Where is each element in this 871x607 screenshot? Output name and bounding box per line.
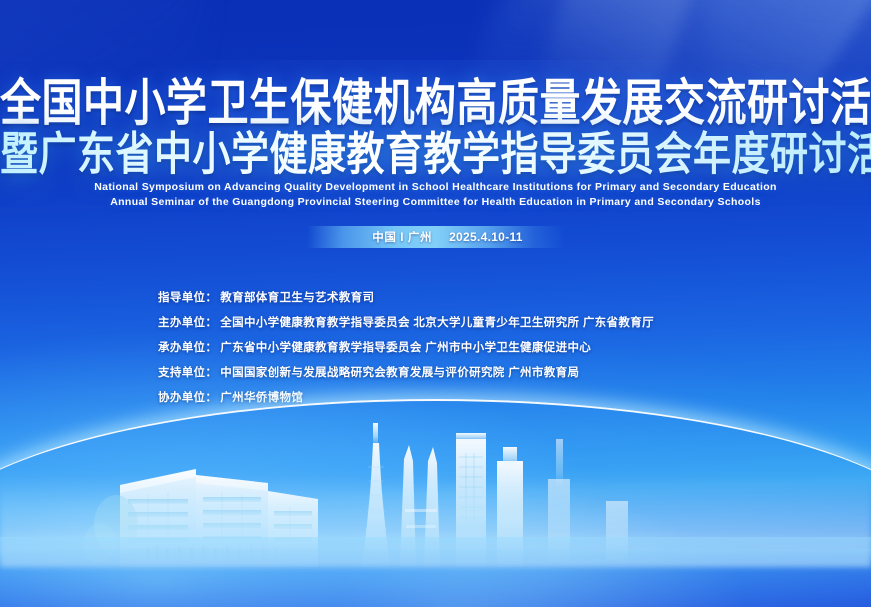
organizer-credits: 指导单位： 教育部体育卫生与艺术教育司 主办单位： 全国中小学健康教育教学指导委… [158,289,654,414]
foreground-ground [0,537,871,607]
title-english-line-2: Annual Seminar of the Guangdong Provinci… [0,195,871,210]
event-meta-badge: 中国 I 广州 2025.4.10-11 [0,226,871,248]
credit-row: 协办单位： 广州华侨博物馆 [158,389,654,414]
credit-value: 教育部体育卫生与艺术教育司 [220,289,374,305]
far-spire-tower [548,439,570,565]
credit-row: 承办单位： 广东省中小学健康教育教学指导委员会 广州市中小学卫生健康促进中心 [158,339,654,364]
event-location: 中国 I 广州 [372,229,432,245]
credit-value: 广州华侨博物馆 [220,389,303,405]
canton-tower [362,423,390,567]
credit-label: 指导单位： [158,289,217,305]
twin-spire-tower [400,445,440,567]
credit-value: 中国国家创新与发展战略研究会教育发展与评价研究院 广州市教育局 [220,364,579,380]
school-building [120,469,318,567]
title-chinese-line-1: 全国中小学卫生保健机构高质量发展交流研讨活动 [0,76,871,130]
horizon-haze [0,477,871,567]
horizon-arc [0,399,871,549]
credit-label: 承办单位： [158,339,217,355]
badge-content: 中国 I 广州 2025.4.10-11 [348,229,522,245]
title-english-line-1: National Symposium on Advancing Quality … [0,180,871,195]
event-date: 2025.4.10-11 [449,230,523,244]
credit-row: 支持单位： 中国国家创新与发展战略研究会教育发展与评价研究院 广州市教育局 [158,364,654,389]
grid-tower [456,433,486,567]
far-block-tower [606,501,628,565]
credit-value: 广东省中小学健康教育教学指导委员会 广州市中小学卫生健康促进中心 [220,339,591,355]
conference-poster: 全国中小学卫生保健机构高质量发展交流研讨活动 暨广东省中小学健康教育教学指导委员… [0,0,871,607]
foliage [84,495,138,563]
credit-label: 协办单位： [158,389,217,405]
credit-row: 指导单位： 教育部体育卫生与艺术教育司 [158,289,654,314]
cityscape-illustration [0,417,871,607]
credit-value: 全国中小学健康教育教学指导委员会 北京大学儿童青少年卫生研究所 广东省教育厅 [220,314,654,330]
title-english: National Symposium on Advancing Quality … [0,180,871,209]
badge-band: 中国 I 广州 2025.4.10-11 [307,226,565,248]
block-tower [497,447,523,567]
credit-label: 主办单位： [158,314,217,330]
credit-row: 主办单位： 全国中小学健康教育教学指导委员会 北京大学儿童青少年卫生研究所 广东… [158,314,654,339]
credit-label: 支持单位： [158,364,217,380]
people-figures [146,545,277,559]
title-chinese-line-2: 暨广东省中小学健康教育教学指导委员会年度研讨活动 [0,130,871,180]
skyline-svg [0,417,871,607]
